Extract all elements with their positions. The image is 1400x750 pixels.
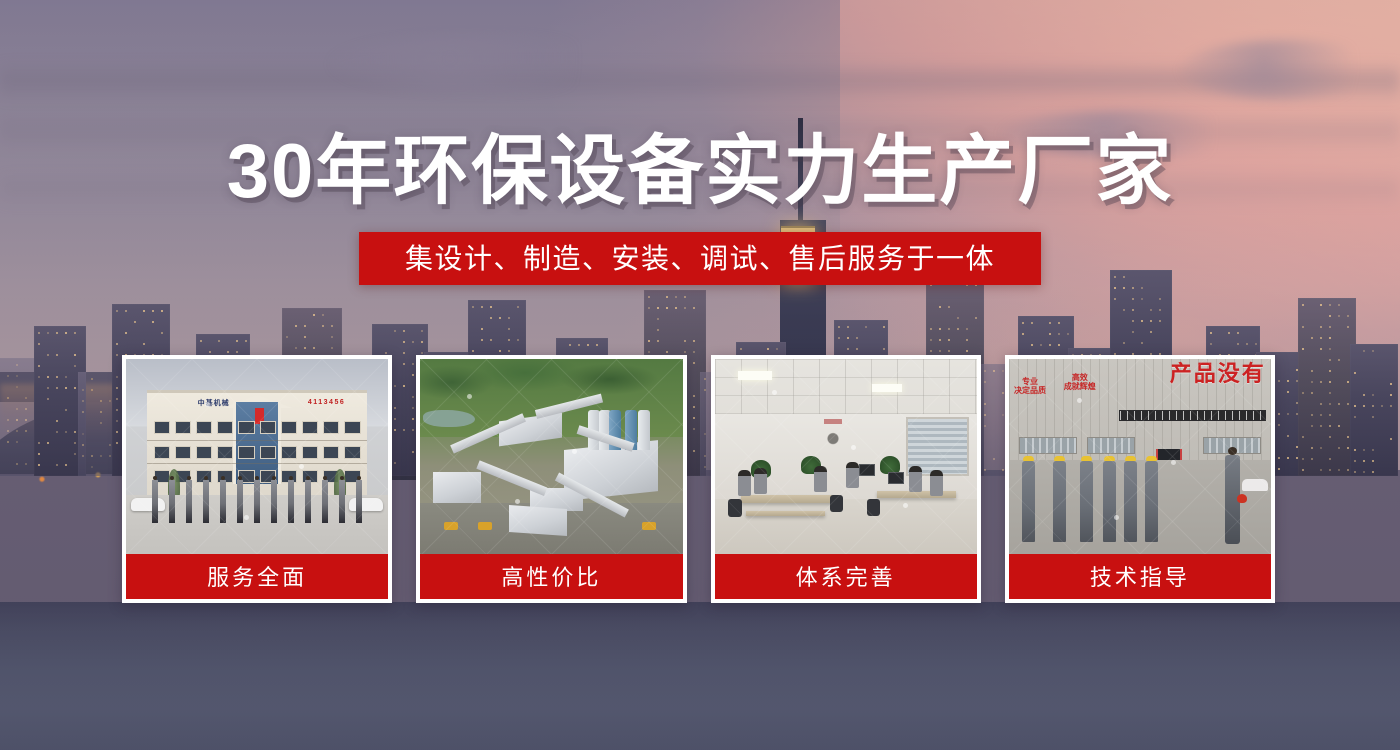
building-sign-logo: 中基机械 (198, 398, 230, 408)
building-sign-phone: 4113456 (308, 399, 345, 406)
promo-banner: 30年环保设备实力生产厂家 集设计、制造、安装、调试、售后服务于一体 中基机械 (0, 0, 1400, 750)
wall-decal (817, 423, 849, 449)
factory-wall-slogan: 产品没有 (1170, 363, 1266, 385)
factory-yard-workers-briefing-photo: 产品没有 专业决定品质 高效成就辉煌 (1009, 359, 1271, 554)
card-caption: 高性价比 (420, 554, 682, 599)
feature-card[interactable]: 中基机械 4113456 服 (122, 355, 392, 603)
card-caption: 体系完善 (715, 554, 977, 599)
feature-card[interactable]: 产品没有 专业决定品质 高效成就辉煌 (1005, 355, 1275, 603)
page-title: 30年环保设备实力生产厂家 (0, 134, 1400, 210)
company-office-building-with-staff-photo: 中基机械 4113456 (126, 359, 388, 554)
subtitle-banner: 集设计、制造、安装、调试、售后服务于一体 (359, 232, 1041, 285)
office-interior-with-employees-photo (715, 359, 977, 554)
factory-wall-slogan-small: 专业决定品质 (1014, 377, 1046, 395)
feature-card[interactable]: 体系完善 (711, 355, 981, 603)
red-helmet (1237, 494, 1247, 503)
factory-wall-slogan-small: 高效成就辉煌 (1064, 373, 1096, 391)
card-caption: 服务全面 (126, 554, 388, 599)
subtitle-text: 集设计、制造、安装、调试、售后服务于一体 (405, 241, 995, 276)
feature-card[interactable]: 高性价比 (416, 355, 686, 603)
aerial-industrial-plant-photo (420, 359, 682, 554)
card-caption: 技术指导 (1009, 554, 1271, 599)
feature-card-row: 中基机械 4113456 服 (122, 355, 1275, 603)
